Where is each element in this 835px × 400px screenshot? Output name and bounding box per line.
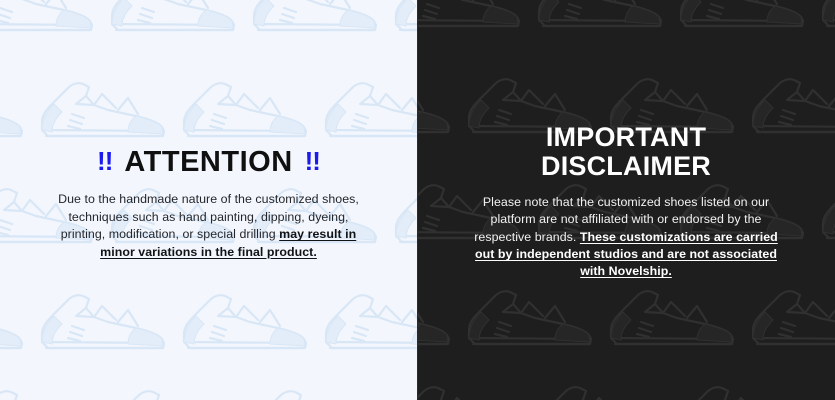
panel-divider	[417, 0, 418, 400]
attention-body: Due to the handmade nature of the custom…	[54, 191, 364, 261]
disclaimer-panel: IMPORTANT DISCLAIMER Please note that th…	[417, 0, 835, 400]
customization-notice-banner: !! ATTENTION !! Due to the handmade natu…	[0, 0, 835, 400]
disclaimer-content: IMPORTANT DISCLAIMER Please note that th…	[417, 123, 835, 281]
disclaimer-heading-line2: DISCLAIMER	[443, 152, 809, 181]
disclaimer-body: Please note that the customized shoes li…	[466, 194, 786, 281]
disclaimer-heading: IMPORTANT DISCLAIMER	[443, 123, 809, 181]
exclamation-right-icon: !!	[305, 148, 320, 175]
disclaimer-heading-line1: IMPORTANT	[443, 123, 809, 152]
attention-heading: !! ATTENTION !!	[30, 147, 387, 177]
exclamation-left-icon: !!	[97, 148, 112, 175]
attention-content: !! ATTENTION !! Due to the handmade natu…	[0, 147, 417, 262]
attention-heading-word: ATTENTION	[124, 147, 292, 177]
attention-panel: !! ATTENTION !! Due to the handmade natu…	[0, 0, 417, 400]
